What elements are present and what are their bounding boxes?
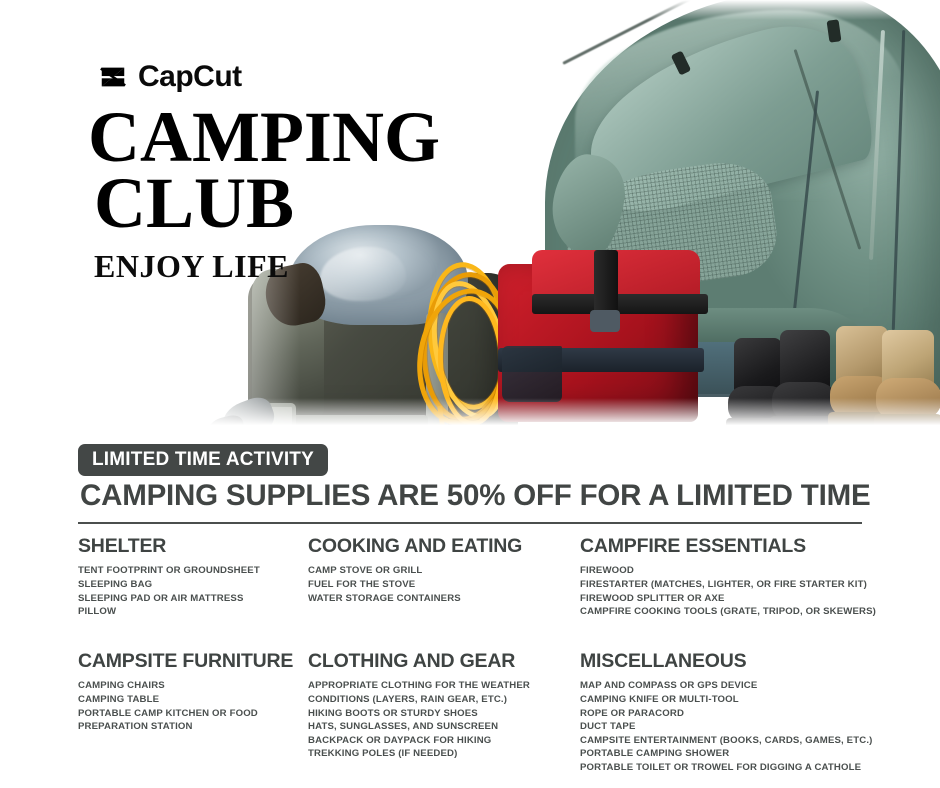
tent-pole — [892, 30, 905, 330]
list-item: DUCT TAPE — [580, 720, 868, 734]
list-item: WATER STORAGE CONTAINERS — [308, 592, 580, 606]
category-item-list: FIREWOOD FIRESTARTER (MATCHES, LIGHTER, … — [580, 564, 868, 618]
category-item-list: MAP AND COMPASS OR GPS DEVICE CAMPING KN… — [580, 679, 868, 774]
photo-top-fade — [0, 0, 940, 20]
boot-toe — [830, 376, 896, 420]
boot-toe — [728, 386, 790, 426]
category-row: SHELTER TENT FOOTPRINT OR GROUNDSHEET SL… — [78, 536, 868, 619]
list-item: CAMPSITE ENTERTAINMENT (BOOKS, CARDS, GA… — [580, 734, 868, 748]
supply-categories: SHELTER TENT FOOTPRINT OR GROUNDSHEET SL… — [78, 536, 868, 775]
list-item: PREPARATION STATION — [78, 720, 308, 734]
category-shelter: SHELTER TENT FOOTPRINT OR GROUNDSHEET SL… — [78, 536, 308, 619]
tent-seam — [794, 49, 862, 250]
list-item: FIREWOOD SPLITTER OR AXE — [580, 592, 868, 606]
boot-sole — [770, 416, 840, 431]
list-item: TREKKING POLES (IF NEEDED) — [308, 747, 580, 761]
backpack-strap — [258, 415, 428, 431]
brand-name: CapCut — [138, 62, 242, 92]
rope-tail — [437, 398, 501, 440]
list-item: CAMPFIRE COOKING TOOLS (GRATE, TRIPOD, O… — [580, 605, 868, 619]
category-campsite-furniture: CAMPSITE FURNITURE CAMPING CHAIRS CAMPIN… — [78, 651, 308, 775]
duffel-buckle — [590, 310, 620, 332]
duffel-strap — [498, 348, 704, 372]
category-title: MISCELLANEOUS — [580, 651, 868, 672]
tent-seam — [562, 0, 920, 65]
category-title: CLOTHING AND GEAR — [308, 651, 580, 672]
list-item: HIKING BOOTS OR STURDY SHOES — [308, 707, 580, 721]
tent-clip — [827, 19, 842, 42]
duffel-side-pocket — [502, 346, 562, 402]
tent-mesh-window — [558, 156, 782, 299]
list-item: CAMPING TABLE — [78, 693, 308, 707]
camping-club-poster: CapCut CAMPING CLUB ENJOY LIFE LIMITED T… — [0, 0, 940, 788]
title-line-1: CAMPING — [88, 104, 440, 170]
list-item: PORTABLE CAMP KITCHEN OR FOOD — [78, 707, 308, 721]
category-campfire-essentials: CAMPFIRE ESSENTIALS FIREWOOD FIRESTARTER… — [580, 536, 868, 619]
backpack-strap — [426, 313, 448, 435]
boot-shaft — [780, 330, 830, 396]
list-item: CAMPING CHAIRS — [78, 679, 308, 693]
tent-floor — [539, 308, 869, 394]
list-item: SLEEPING BAG — [78, 578, 308, 592]
backpack-body — [248, 273, 518, 435]
tent-clip — [671, 50, 691, 75]
list-item: ROPE OR PARACORD — [580, 707, 868, 721]
camping-tent-image — [545, 0, 940, 410]
list-item: FIRESTARTER (MATCHES, LIGHTER, OR FIRE S… — [580, 578, 868, 592]
boot-shaft — [836, 326, 888, 390]
rope-loop — [417, 269, 515, 425]
category-item-list: APPROPRIATE CLOTHING FOR THE WEATHER CON… — [308, 679, 580, 761]
list-item: TENT FOOTPRINT OR GROUNDSHEET — [78, 564, 308, 578]
tan-hiking-boot — [876, 330, 938, 436]
category-title: CAMPFIRE ESSENTIALS — [580, 536, 868, 557]
tan-hiking-boot — [830, 326, 892, 434]
boot-shaft — [734, 338, 782, 400]
list-item: FIREWOOD — [580, 564, 868, 578]
category-miscellaneous: MISCELLANEOUS MAP AND COMPASS OR GPS DEV… — [580, 651, 868, 775]
duffel-flap — [532, 250, 700, 308]
boot-sole — [828, 412, 898, 428]
tent-rainfly-panel — [571, 10, 879, 223]
backpack-foot — [206, 413, 246, 440]
list-item: MAP AND COMPASS OR GPS DEVICE — [580, 679, 868, 693]
capcut-logo-icon — [98, 62, 128, 92]
category-title: COOKING AND EATING — [308, 536, 580, 557]
section-divider — [78, 522, 862, 524]
tent-pole — [790, 91, 819, 340]
title-subtitle: ENJOY LIFE — [88, 248, 440, 285]
rope-coil-image — [418, 262, 528, 440]
list-item: CONDITIONS (LAYERS, RAIN GEAR, ETC.) — [308, 693, 580, 707]
rope-loop — [436, 295, 506, 427]
boot-sole — [726, 418, 792, 432]
tent-zipper — [869, 30, 885, 260]
brand-lockup: CapCut — [98, 62, 242, 92]
rope-loop — [407, 281, 524, 433]
boot-toe — [876, 378, 940, 422]
list-item: APPROPRIATE CLOTHING FOR THE WEATHER — [308, 679, 580, 693]
page-title: CAMPING CLUB ENJOY LIFE — [88, 104, 440, 285]
boot-shaft — [882, 330, 934, 392]
category-item-list: CAMPING CHAIRS CAMPING TABLE PORTABLE CA… — [78, 679, 308, 733]
backpack-side-panel — [252, 269, 324, 419]
category-cooking-and-eating: COOKING AND EATING CAMP STOVE OR GRILL F… — [308, 536, 580, 619]
tent-body — [545, 0, 940, 390]
list-item: HATS, SUNGLASSES, AND SUNSCREEN — [308, 720, 580, 734]
status-badge: LIMITED TIME ACTIVITY — [78, 444, 328, 476]
duffel-body — [498, 264, 698, 422]
list-item: SLEEPING PAD OR AIR MATTRESS — [78, 592, 308, 606]
list-item: CAMPING KNIFE OR MULTI-TOOL — [580, 693, 868, 707]
list-item: PORTABLE CAMPING SHOWER — [580, 747, 868, 761]
red-duffel-bag-image — [498, 250, 708, 425]
rope-loop — [420, 274, 520, 426]
category-row: CAMPSITE FURNITURE CAMPING CHAIRS CAMPIN… — [78, 651, 868, 775]
black-hiking-boot — [728, 338, 786, 434]
duffel-strap — [532, 294, 708, 314]
backpack-foot — [218, 393, 278, 440]
list-item: CAMP STOVE OR GRILL — [308, 564, 580, 578]
tent-door-flap — [545, 150, 631, 261]
list-item: FUEL FOR THE STOVE — [308, 578, 580, 592]
category-title: CAMPSITE FURNITURE — [78, 651, 308, 672]
category-clothing-and-gear: CLOTHING AND GEAR APPROPRIATE CLOTHING F… — [308, 651, 580, 775]
boot-sole — [874, 414, 940, 430]
photo-bottom-fade — [0, 398, 940, 440]
backpack-buckle — [266, 403, 296, 429]
boot-toe — [772, 382, 838, 424]
list-item: BACKPACK OR DAYPACK FOR HIKING — [308, 734, 580, 748]
category-title: SHELTER — [78, 536, 308, 557]
tent-floor-shadow — [545, 342, 795, 397]
promo-headline: CAMPING SUPPLIES ARE 50% OFF FOR A LIMIT… — [80, 478, 870, 515]
list-item: PORTABLE TOILET OR TROWEL FOR DIGGING A … — [580, 761, 868, 775]
tent-highlight — [575, 10, 905, 200]
title-line-2: CLUB — [88, 170, 440, 236]
category-item-list: TENT FOOTPRINT OR GROUNDSHEET SLEEPING B… — [78, 564, 308, 618]
black-hiking-boot — [772, 330, 834, 434]
list-item: PILLOW — [78, 605, 308, 619]
category-item-list: CAMP STOVE OR GRILL FUEL FOR THE STOVE W… — [308, 564, 580, 605]
duffel-strap — [594, 250, 618, 330]
